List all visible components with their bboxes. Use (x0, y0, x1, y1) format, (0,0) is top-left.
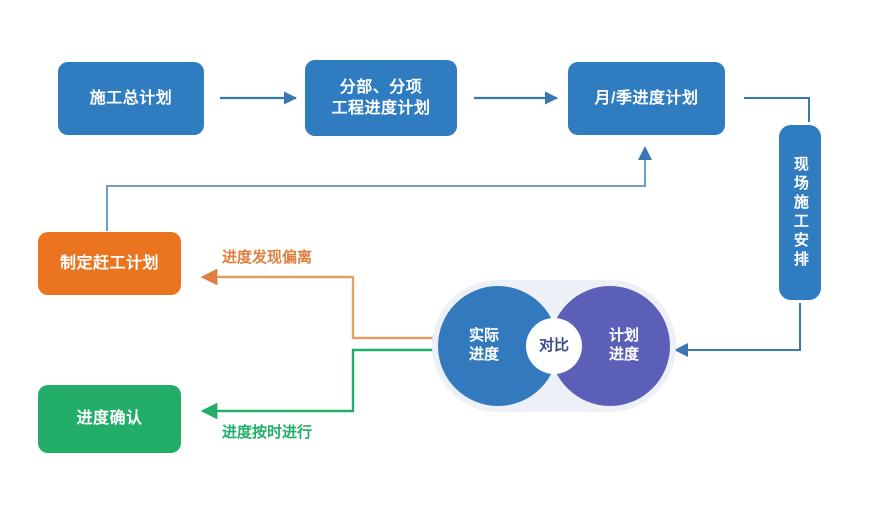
node-total-construction-plan[interactable]: 施工总计划 (58, 62, 204, 135)
venn-comparison-group: 实际 进度 计划 进度 对比 (438, 286, 670, 406)
venn-planned-line2: 进度 (609, 346, 639, 363)
connector-venn-to-catchup (203, 277, 441, 338)
connector-site-to-venn (676, 303, 800, 350)
node-label: 施工总计划 (90, 88, 173, 109)
node-label: 月/季进度计划 (595, 88, 699, 109)
connector-month-to-site (744, 98, 809, 122)
node-subproject-schedule-plan[interactable]: 分部、分项 工程进度计划 (305, 60, 457, 136)
edge-label-on-time: 进度按时进行 (222, 421, 312, 442)
node-label: 现场施工安排 (790, 156, 810, 270)
connector-catchup-to-month (107, 148, 645, 231)
venn-compare-label: 对比 (539, 337, 569, 356)
venn-intersection-compare[interactable]: 对比 (526, 318, 582, 374)
venn-planned-line1: 计划 (609, 327, 639, 344)
flowchart-canvas: 施工总计划 分部、分项 工程进度计划 月/季进度计划 现场施工安排 制定赶工计划… (0, 0, 873, 510)
connector-venn-to-confirm (203, 350, 441, 411)
node-label-line1: 分部、分项 (340, 79, 423, 96)
node-label: 进度确认 (76, 408, 142, 429)
edge-label-deviation: 进度发现偏离 (222, 246, 312, 267)
node-catchup-plan[interactable]: 制定赶工计划 (38, 232, 181, 295)
node-label: 分部、分项 工程进度计划 (331, 77, 430, 119)
node-site-construction-arrangement[interactable]: 现场施工安排 (779, 125, 821, 300)
venn-actual-label: 实际 进度 (469, 327, 499, 365)
venn-actual-line1: 实际 (469, 327, 499, 344)
node-monthly-quarterly-plan[interactable]: 月/季进度计划 (568, 62, 725, 135)
node-label: 制定赶工计划 (60, 253, 159, 274)
node-schedule-confirmation[interactable]: 进度确认 (38, 385, 181, 453)
node-label-line2: 工程进度计划 (331, 100, 430, 117)
venn-actual-line2: 进度 (469, 346, 499, 363)
venn-planned-label: 计划 进度 (609, 327, 639, 365)
